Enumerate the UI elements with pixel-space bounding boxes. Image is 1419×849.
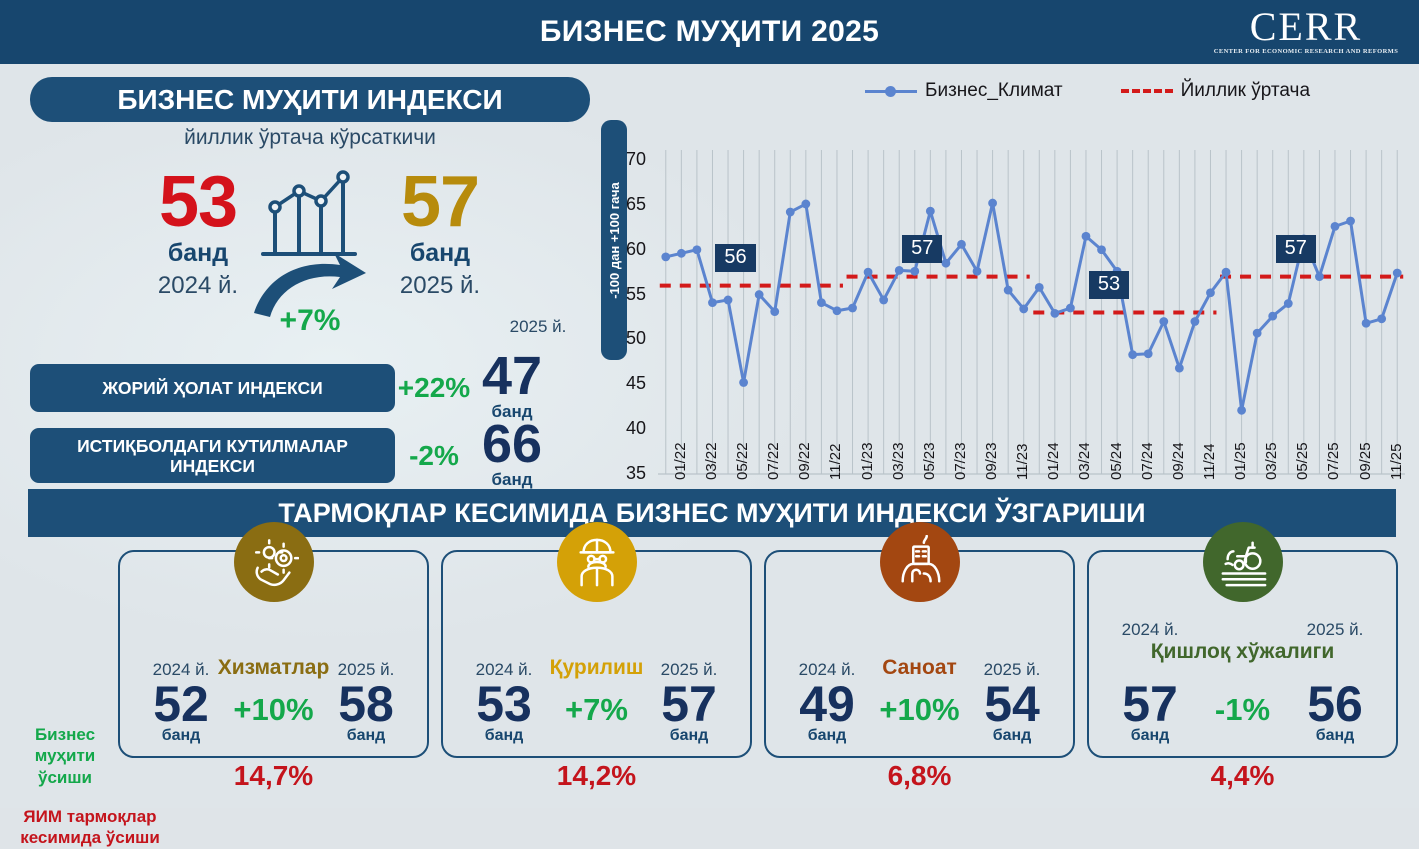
sector-gdp-growth: 6,8% [766,760,1073,792]
sector-banner: ТАРМОҚЛАР КЕСИМИДА БИЗНЕС МУҲИТИ ИНДЕКСИ… [28,489,1396,537]
sector-value-2024: 49банд [782,682,872,745]
chart-x-tick: 09/25 [1357,442,1374,480]
page-title: БИЗНЕС МУҲИТИ 2025 [540,15,879,49]
sector-value-2024-unit: банд [1105,727,1195,745]
expectations-index-delta: -2% [395,440,473,472]
sector-value-2024-number: 49 [782,682,872,727]
logo-wordmark: CERR [1250,8,1362,46]
sector-value-2024-number: 53 [459,682,549,727]
chart-x-tick: 09/23 [983,442,1000,480]
sector-value-2024: 52банд [136,682,226,745]
chart-x-tick: 01/22 [672,442,689,480]
sector-value-2025: 57банд [644,682,734,745]
sector-card: 2024 й.2025 й.Саноат49банд+10%54банд6,8% [764,550,1075,758]
chart-y-tick: 65 [612,194,646,215]
sector-value-2025-unit: банд [644,727,734,745]
sector-value-2024-number: 52 [136,682,226,727]
chart-y-tick: 70 [612,149,646,170]
sector-delta: -1% [1215,692,1270,728]
sector-value-2024: 57банд [1105,682,1195,745]
chart-x-tick: 11/22 [827,444,844,480]
chart-x-tick: 05/25 [1294,442,1311,480]
sector-value-2025-number: 58 [321,682,411,727]
sector-value-2024-unit: банд [136,727,226,745]
sector-row-label-gdp: ЯИМ тармоқлар кесимида ўсиши [6,806,174,849]
chart-x-tick: 05/24 [1108,442,1125,480]
sector-card: 2024 й.2025 й.Қурилиш53банд+7%57банд14,2… [441,550,752,758]
expectations-index-value: 66 банд [473,422,551,490]
sector-gdp-growth: 4,4% [1089,760,1396,792]
business-climate-chart: -100 дан +100 гача Бизнес_Климат Йиллик … [600,72,1412,484]
chart-x-tick: 05/22 [734,442,751,480]
sector-delta: +10% [233,692,313,728]
sector-card-list: 2024 й.2025 й.Хизматлар52банд+10%58банд1… [118,550,1408,758]
sector-value-2024-unit: банд [459,727,549,745]
page-header: БИЗНЕС МУҲИТИ 2025 CERR CENTER FOR ECONO… [0,0,1419,64]
chart-x-tick: 07/23 [952,442,969,480]
current-state-index-row: ЖОРИЙ ҲОЛАТ ИНДЕКСИ +22% 47 банд [30,354,551,422]
sector-value-2025: 54банд [967,682,1057,745]
chart-x-tick: 07/22 [765,442,782,480]
current-state-index-delta: +22% [395,372,473,404]
sector-gdp-growth: 14,7% [120,760,427,792]
chart-y-tick: 40 [612,418,646,439]
chart-x-tick: 01/23 [859,442,876,480]
chart-plot-area [600,72,1412,484]
chart-x-tick: 11/24 [1201,444,1218,480]
sector-row-label-growth: Бизнес муҳити ўсиши [6,724,124,788]
current-state-index-value: 47 банд [473,354,551,422]
annual-average-badge: 57 [902,235,942,263]
chart-x-tick: 03/24 [1076,442,1093,480]
business-index-title: БИЗНЕС МУҲИТИ ИНДЕКСИ [30,77,590,122]
chart-x-tick: 07/25 [1325,442,1342,480]
chart-y-tick: 60 [612,239,646,260]
index-value-2024: 53 [118,169,278,235]
sector-delta: +7% [565,692,628,728]
chart-x-tick: 03/25 [1263,442,1280,480]
chart-x-tick: 07/24 [1139,442,1156,480]
chart-x-tick: 09/22 [796,442,813,480]
sector-year-left: 2024 й. [1105,620,1195,640]
factory-icon [880,522,960,602]
sector-delta: +10% [879,692,959,728]
sector-value-2025: 58банд [321,682,411,745]
index-value-2025: 57 [360,169,520,235]
expectations-index-label: ИСТИҚБОЛДАГИ КУТИЛМАЛАР ИНДЕКСИ [30,428,395,483]
chart-y-tick: 35 [612,463,646,484]
indices-year-header: 2025 й. [488,317,588,337]
sector-value-2024: 53банд [459,682,549,745]
index-growth-percent: +7% [245,304,375,338]
sector-year-right: 2025 й. [1290,620,1380,640]
chart-x-tick: 03/23 [890,442,907,480]
content-stage: БИЗНЕС МУҲИТИ ИНДЕКСИ йиллик ўртача кўрс… [0,64,1419,808]
chart-x-tick: 03/22 [703,442,720,480]
cerr-logo: CERR CENTER FOR ECONOMIC RESEARCH AND RE… [1211,4,1401,60]
index-unit-2025: банд [360,239,520,268]
expectations-index-row: ИСТИҚБОЛДАГИ КУТИЛМАЛАР ИНДЕКСИ -2% 66 б… [30,422,551,490]
sector-value-2025-number: 56 [1290,682,1380,727]
expectations-index-number: 66 [473,422,551,468]
current-state-index-number: 47 [473,354,551,400]
index-year-2025: 2025 й. [360,272,520,300]
sector-value-2025-unit: банд [321,727,411,745]
sector-value-2025-number: 57 [644,682,734,727]
sector-name: Қишлоқ хўжалиги [1089,640,1396,664]
chart-y-tick: 55 [612,284,646,305]
annual-average-badge: 56 [715,244,755,272]
construction-worker-icon [557,522,637,602]
logo-tagline: CENTER FOR ECONOMIC RESEARCH AND REFORMS [1214,48,1398,56]
gear-hand-icon [234,522,314,602]
annual-average-badge: 53 [1089,271,1129,299]
chart-y-tick: 50 [612,328,646,349]
sector-gdp-growth: 14,2% [443,760,750,792]
sector-value-2025-unit: банд [967,727,1057,745]
chart-x-tick: 09/24 [1170,442,1187,480]
tractor-field-icon [1203,522,1283,602]
sector-card: 2024 й.2025 й.Қишлоқ хўжалиги57банд-1%56… [1087,550,1398,758]
chart-x-tick: 11/25 [1388,444,1405,480]
sector-value-2024-number: 57 [1105,682,1195,727]
sector-value-2025-unit: банд [1290,727,1380,745]
business-index-subtitle: йиллик ўртача кўрсаткичи [30,126,590,150]
sector-value-2025: 56банд [1290,682,1380,745]
sector-card: 2024 й.2025 й.Хизматлар52банд+10%58банд1… [118,550,429,758]
chart-x-tick: 01/25 [1232,442,1249,480]
chart-x-tick: 11/23 [1014,444,1031,480]
chart-x-tick: 01/24 [1045,442,1062,480]
annual-average-badge: 57 [1276,235,1316,263]
current-state-index-label: ЖОРИЙ ҲОЛАТ ИНДЕКСИ [30,364,395,412]
chart-x-tick: 05/23 [921,442,938,480]
sector-value-2024-unit: банд [782,727,872,745]
chart-y-tick: 45 [612,373,646,394]
sector-value-2025-number: 54 [967,682,1057,727]
